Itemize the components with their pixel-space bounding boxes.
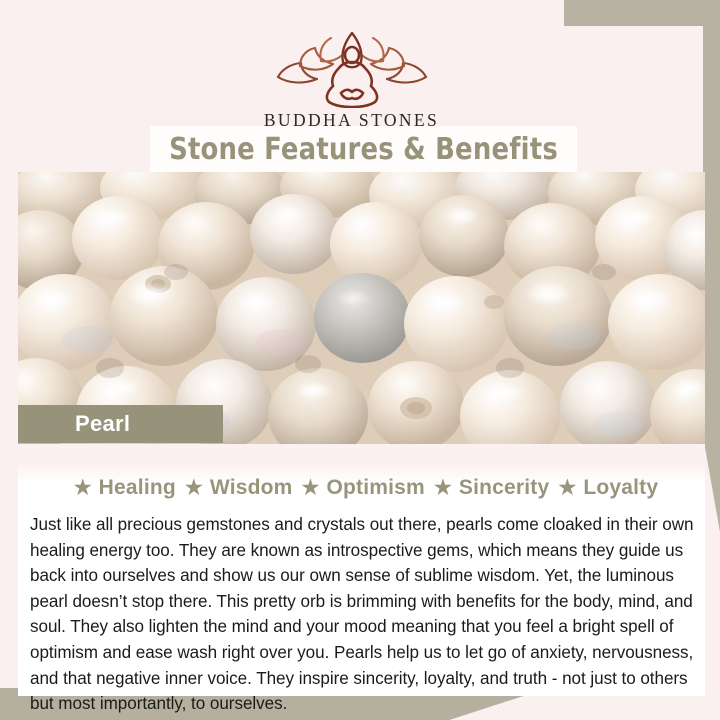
benefit-keyword-list: ★ Healing ★ Wisdom ★ Optimism ★ Sincerit… [18, 444, 705, 510]
star-icon: ★ [434, 478, 452, 498]
benefit-item-wisdom: ★ Wisdom [176, 476, 293, 500]
benefit-label: Sincerity [459, 476, 550, 500]
infographic-card: BUDDHA STONES Stone Features & Benefits [0, 0, 720, 720]
stone-name-tag: Pearl [18, 405, 223, 443]
benefit-label: Optimism [326, 476, 424, 500]
benefit-item-healing: ★ Healing [65, 476, 176, 500]
star-icon: ★ [185, 478, 203, 498]
buddha-lotus-icon [267, 30, 437, 108]
description-text: Just like all precious gemstones and cry… [18, 510, 705, 717]
benefit-label: Healing [99, 476, 176, 500]
benefit-item-sincerity: ★ Sincerity [425, 476, 549, 500]
frame-accent-right [703, 0, 720, 532]
frame-accent-top-right [564, 0, 720, 26]
star-icon: ★ [74, 478, 92, 498]
page-title: Stone Features & Benefits [169, 132, 558, 167]
stone-name: Pearl [75, 411, 130, 437]
star-icon: ★ [558, 478, 576, 498]
content-panel: ★ Healing ★ Wisdom ★ Optimism ★ Sincerit… [18, 444, 705, 696]
pearls-photo [18, 172, 705, 444]
benefit-label: Wisdom [210, 476, 293, 500]
hero-image [18, 172, 705, 444]
benefit-label: Loyalty [583, 476, 658, 500]
benefit-item-optimism: ★ Optimism [293, 476, 425, 500]
star-icon: ★ [302, 478, 320, 498]
title-band: Stone Features & Benefits [150, 126, 577, 172]
benefit-item-loyalty: ★ Loyalty [549, 476, 658, 500]
brand-logo: BUDDHA STONES [0, 30, 703, 131]
